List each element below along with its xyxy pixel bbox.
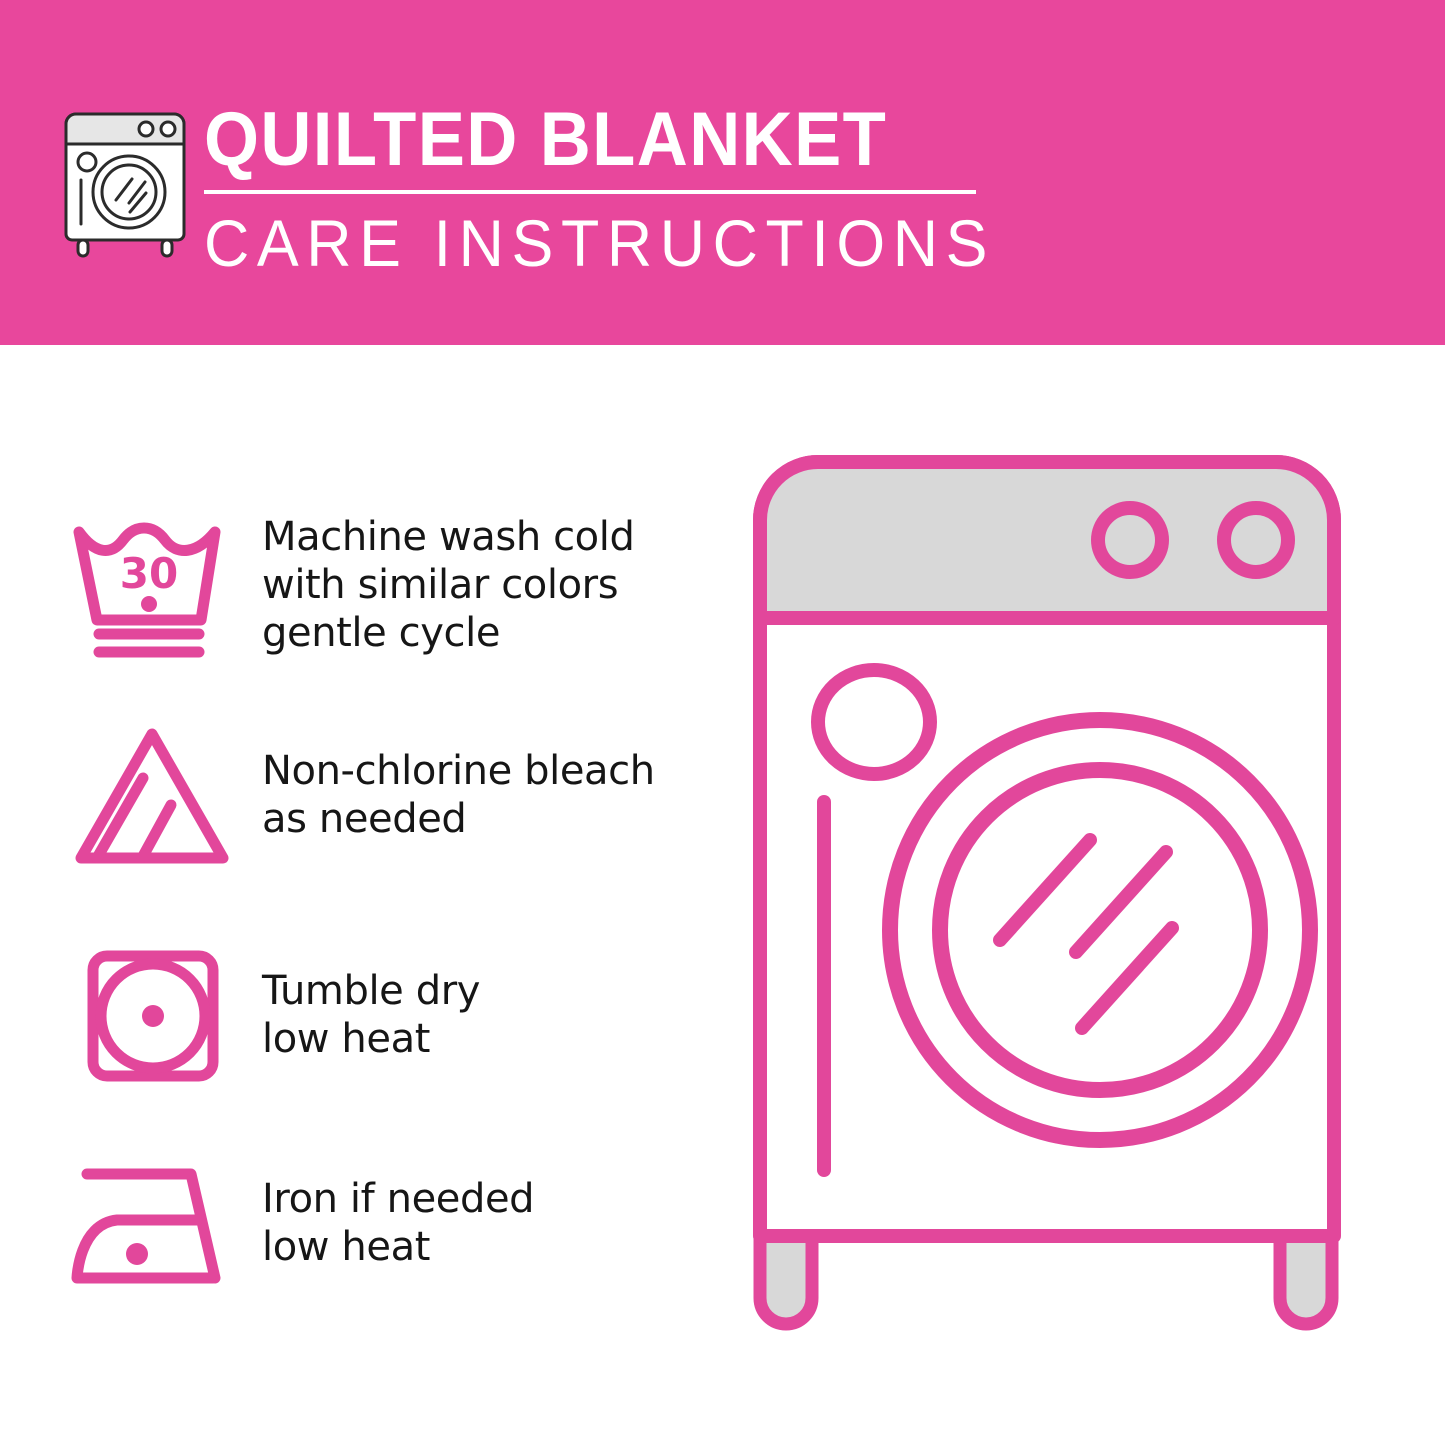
header-banner: QUILTED BLANKET CARE INSTRUCTIONS: [0, 0, 1445, 345]
care-row-bleach: Non-chlorine bleach as needed: [0, 705, 700, 885]
care-label-machine-wash: Machine wash cold with similar colors ge…: [262, 513, 634, 657]
care-row-machine-wash: 30 Machine wash cold with similar colors…: [0, 495, 700, 675]
knob-right: [1224, 508, 1288, 572]
wash-temperature-label: 30: [120, 549, 178, 598]
bleach-triangle-icon: [65, 720, 240, 870]
wash-tub-30-icon: 30: [65, 510, 240, 660]
title-divider: [204, 190, 976, 194]
page-title: QUILTED BLANKET: [204, 98, 948, 182]
tumble-dry-icon: [65, 940, 240, 1090]
iron-icon: [65, 1148, 240, 1298]
knob-left: [1098, 508, 1162, 572]
front-load-washing-machine-illustration: [700, 430, 1445, 1390]
washing-machine-icon: [60, 100, 190, 260]
care-line: gentle cycle: [262, 609, 634, 657]
care-row-tumble-dry: Tumble dry low heat: [0, 930, 700, 1100]
care-instruction-list: 30 Machine wash cold with similar colors…: [0, 345, 700, 1445]
page-subtitle: CARE INSTRUCTIONS: [204, 206, 964, 280]
care-line: low heat: [262, 1015, 480, 1063]
care-line: with similar colors: [262, 561, 634, 609]
care-label-iron: Iron if needed low heat: [262, 1175, 534, 1271]
care-label-bleach: Non-chlorine bleach as needed: [262, 747, 655, 843]
detergent-indicator: [818, 670, 930, 774]
care-line: Tumble dry: [262, 967, 480, 1015]
care-label-tumble-dry: Tumble dry low heat: [262, 967, 480, 1063]
header-title-block: QUILTED BLANKET CARE INSTRUCTIONS: [204, 98, 1004, 280]
care-line: as needed: [262, 795, 655, 843]
leg-right: [1280, 1230, 1332, 1324]
care-line: Machine wash cold: [262, 513, 634, 561]
care-line: low heat: [262, 1223, 534, 1271]
care-row-iron: Iron if needed low heat: [0, 1135, 700, 1310]
care-line: Non-chlorine bleach: [262, 747, 655, 795]
care-instructions-infographic: QUILTED BLANKET CARE INSTRUCTIONS 30: [0, 0, 1445, 1445]
leg-left: [760, 1230, 812, 1324]
care-line: Iron if needed: [262, 1175, 534, 1223]
